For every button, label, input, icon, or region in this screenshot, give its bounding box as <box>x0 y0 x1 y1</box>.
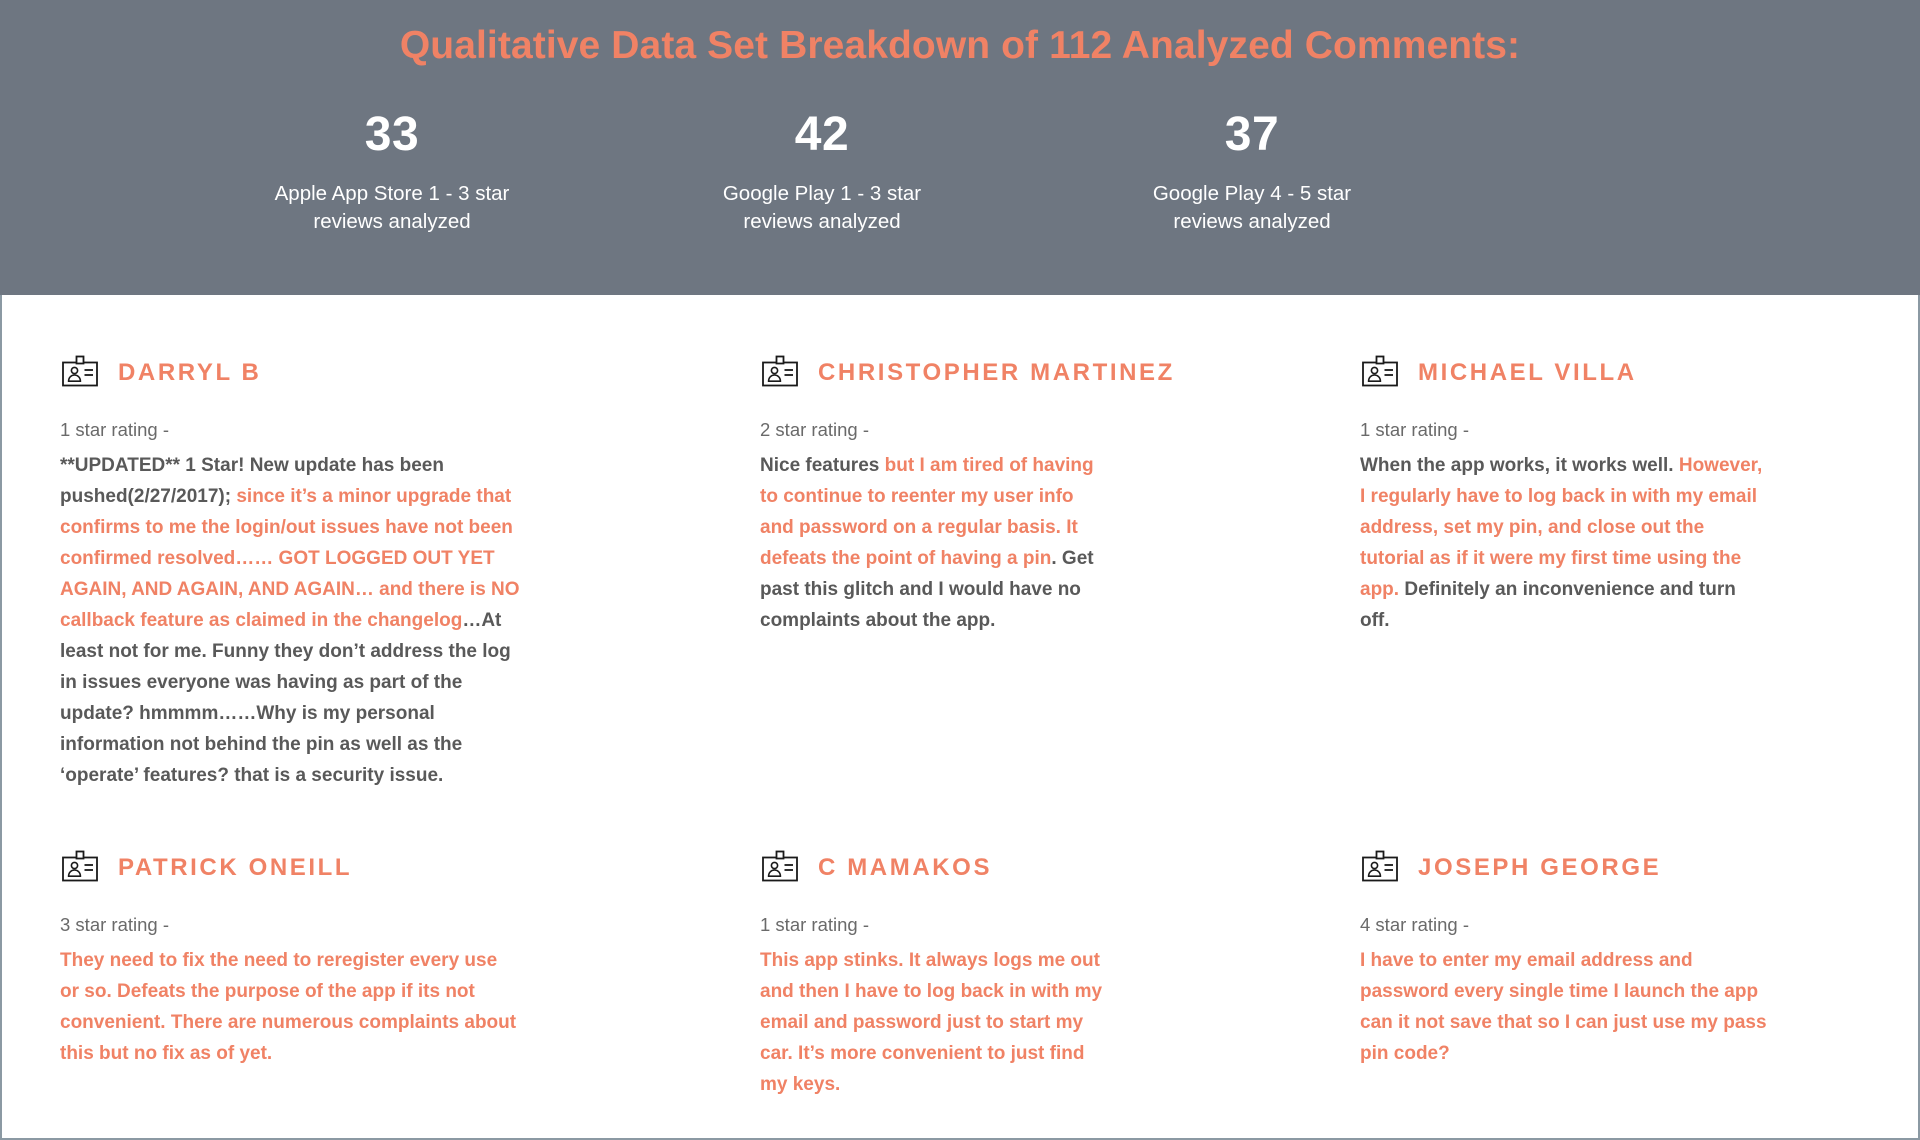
id-card-icon <box>60 848 100 888</box>
review-rating: 1 star rating - <box>1360 419 1920 441</box>
stat-label: Google Play 4 - 5 star reviews analyzed <box>1082 180 1422 237</box>
id-card-icon <box>760 848 800 888</box>
review-card: C MAMAKOS1 star rating -This app stinks.… <box>760 848 1360 1101</box>
stats-row: 33 Apple App Store 1 - 3 star reviews an… <box>0 111 1920 237</box>
infographic-page: Qualitative Data Set Breakdown of 112 An… <box>0 0 1920 1140</box>
review-header: MICHAEL VILLA <box>1360 353 1920 393</box>
review-text-plain: Nice features <box>760 455 885 476</box>
id-card-icon <box>60 353 100 393</box>
reviewer-name: C MAMAKOS <box>818 854 992 882</box>
id-card-icon <box>760 353 800 393</box>
stat-label-line2: reviews analyzed <box>1173 210 1330 233</box>
reviewer-name: CHRISTOPHER MARTINEZ <box>818 359 1175 387</box>
review-text: When the app works, it works well. Howev… <box>1360 451 1770 637</box>
reviewer-name: JOSEPH GEORGE <box>1418 854 1661 882</box>
reviewer-name: DARRYL B <box>118 359 261 387</box>
review-card: JOSEPH GEORGE4 star rating -I have to en… <box>1360 848 1920 1101</box>
review-text: **UPDATED** 1 Star! New update has been … <box>60 451 530 792</box>
review-header: C MAMAKOS <box>760 848 1320 888</box>
review-card: MICHAEL VILLA1 star rating -When the app… <box>1360 353 1920 792</box>
review-text: I have to enter my email address and pas… <box>1360 946 1770 1070</box>
review-header: DARRYL B <box>60 353 720 393</box>
review-rating: 3 star rating - <box>60 914 720 936</box>
review-rating: 4 star rating - <box>1360 914 1920 936</box>
review-text-plain: …At least not for me. Funny they don’t a… <box>60 610 511 786</box>
stat-label: Google Play 1 - 3 star reviews analyzed <box>652 180 992 237</box>
reviews-section: DARRYL B1 star rating -**UPDATED** 1 Sta… <box>0 295 1920 1140</box>
review-rating: 2 star rating - <box>760 419 1320 441</box>
review-text: This app stinks. It always logs me out a… <box>760 946 1110 1101</box>
review-text-highlighted: They need to fix the need to reregister … <box>60 950 516 1064</box>
review-header: JOSEPH GEORGE <box>1360 848 1920 888</box>
id-card-icon <box>1360 848 1400 888</box>
review-text-highlighted: This app stinks. It always logs me out a… <box>760 950 1102 1095</box>
stat-number: 33 <box>222 111 562 159</box>
review-rating: 1 star rating - <box>760 914 1320 936</box>
reviewer-name: PATRICK ONEILL <box>118 854 352 882</box>
review-rating: 1 star rating - <box>60 419 720 441</box>
stat-label-line1: Google Play 1 - 3 star <box>723 182 921 205</box>
stat-label-line2: reviews analyzed <box>743 210 900 233</box>
review-card: DARRYL B1 star rating -**UPDATED** 1 Sta… <box>60 353 760 792</box>
review-text: Nice features but I am tired of having t… <box>760 451 1110 637</box>
review-text-highlighted: since it’s a minor upgrade that confirms… <box>60 486 520 631</box>
review-header: CHRISTOPHER MARTINEZ <box>760 353 1320 393</box>
review-card: PATRICK ONEILL3 star rating -They need t… <box>60 848 760 1101</box>
id-card-icon <box>1360 353 1400 393</box>
page-title: Qualitative Data Set Breakdown of 112 An… <box>0 24 1920 69</box>
stat-number: 37 <box>1082 111 1422 159</box>
stat-label: Apple App Store 1 - 3 star reviews analy… <box>222 180 562 237</box>
review-text-plain: When the app works, it works well. <box>1360 455 1679 476</box>
stat-google-play-high: 37 Google Play 4 - 5 star reviews analyz… <box>1082 111 1422 237</box>
stat-google-play-low: 42 Google Play 1 - 3 star reviews analyz… <box>652 111 992 237</box>
stat-apple-app-store: 33 Apple App Store 1 - 3 star reviews an… <box>222 111 562 237</box>
review-text: They need to fix the need to reregister … <box>60 946 520 1070</box>
reviewer-name: MICHAEL VILLA <box>1418 359 1637 387</box>
stat-label-line2: reviews analyzed <box>313 210 470 233</box>
stat-number: 42 <box>652 111 992 159</box>
review-text-highlighted: I have to enter my email address and pas… <box>1360 950 1767 1064</box>
review-text-plain: Definitely an inconvenience and turn off… <box>1360 579 1736 631</box>
stat-label-line1: Google Play 4 - 5 star <box>1153 182 1351 205</box>
header-banner: Qualitative Data Set Breakdown of 112 An… <box>0 0 1920 295</box>
review-card: CHRISTOPHER MARTINEZ2 star rating -Nice … <box>760 353 1360 792</box>
reviews-grid: DARRYL B1 star rating -**UPDATED** 1 Sta… <box>2 353 1918 1101</box>
review-header: PATRICK ONEILL <box>60 848 720 888</box>
stat-label-line1: Apple App Store 1 - 3 star <box>275 182 510 205</box>
